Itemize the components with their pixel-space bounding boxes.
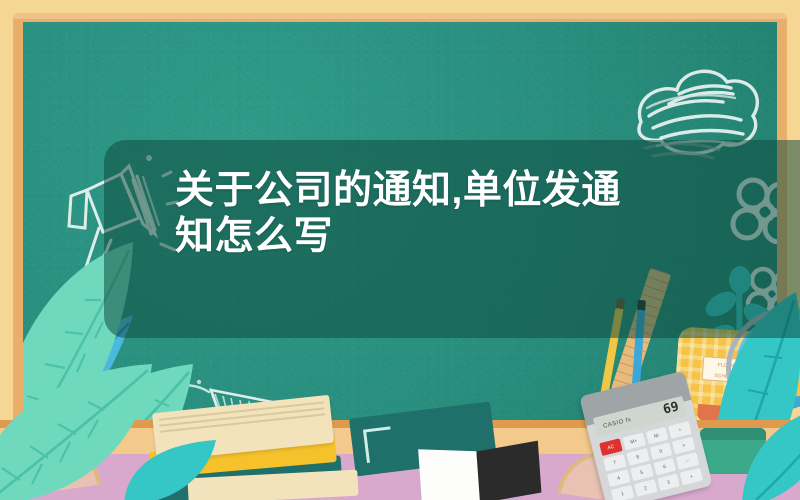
calculator-key: + [680,468,703,486]
calculator-key: 5 [630,464,653,482]
calculator-key: 8 [626,448,649,466]
open-book-page-left [418,449,480,500]
calculator-key: 6 [653,458,676,476]
calculator-key: 1 [611,485,634,500]
calculator-key: − [676,452,699,470]
calculator-key: 2 [634,479,657,497]
illustration-canvas: FLOWI SCHOOL [0,0,800,500]
calculator-key: × [672,437,695,455]
open-book-page-right [476,441,541,500]
calculator-key: 9 [649,442,672,460]
calculator-key: 7 [603,454,626,472]
calculator-key: AC [599,438,622,456]
small-leaf-foreground [120,436,240,500]
leaf-foreground-right [736,398,800,500]
page-title: 关于公司的通知,单位发通知怎么写 [175,168,645,260]
calculator-display-value: 69 [662,399,681,417]
open-book [418,444,541,500]
chalkboard-frame-highlight [13,13,787,19]
calculator-key: M+ [622,433,645,451]
calculator-key: 4 [607,469,630,487]
calculator-key: M- [645,427,668,445]
calculator-brand-label: CASIO fx [603,417,633,430]
calculator-key: 3 [657,473,680,491]
calculator-key: ÷ [668,421,691,439]
